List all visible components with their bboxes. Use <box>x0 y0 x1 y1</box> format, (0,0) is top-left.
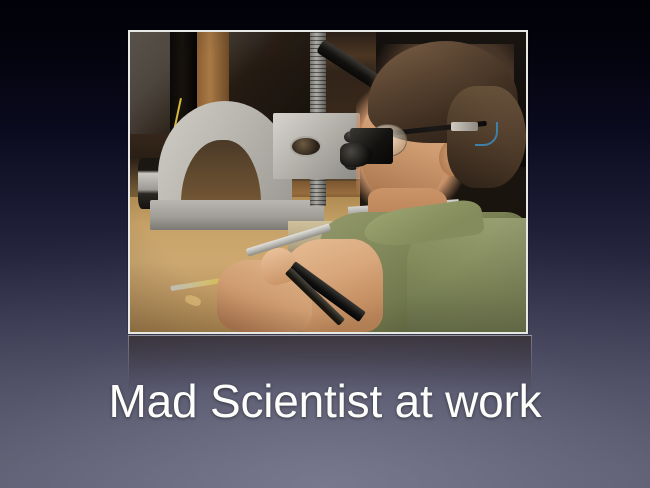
slide-title: Mad Scientist at work <box>0 378 650 424</box>
photo-vignette <box>130 32 526 332</box>
presentation-slide: Mad Scientist at work <box>0 0 650 488</box>
photo-frame <box>128 30 528 334</box>
photograph <box>130 32 526 332</box>
